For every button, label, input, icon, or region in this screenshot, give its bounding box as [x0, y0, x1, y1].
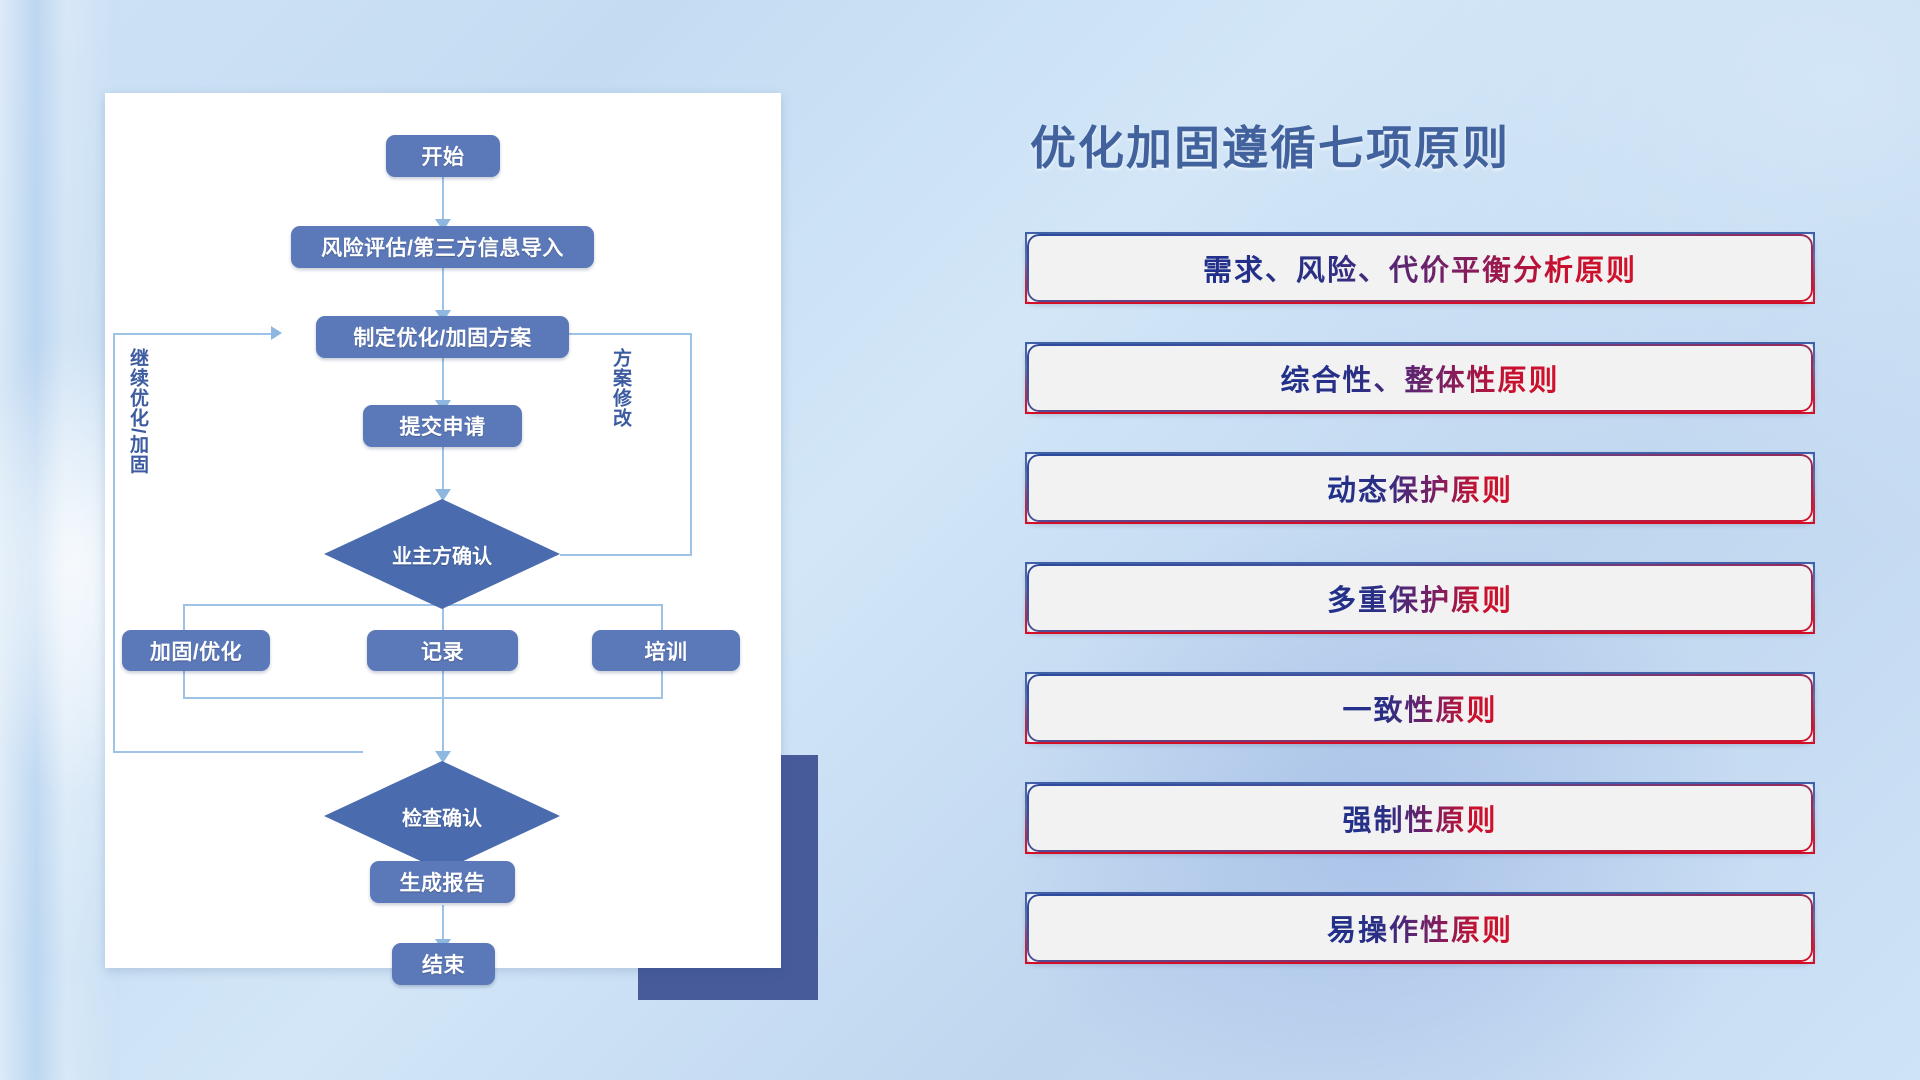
connector-owner-fork — [183, 604, 663, 606]
flow-node-start-label: 开始 — [422, 141, 465, 171]
principle-item-7-label: 易操作性原则 — [1327, 907, 1513, 949]
flowchart-card: 开始 风险评估/第三方信息导入 制定优化/加固方案 提交申请 业主方确认 加固/… — [105, 93, 781, 968]
principle-item-5[interactable]: 一致性原则 — [1025, 672, 1815, 744]
edge-label-right-loop: 方案修改 — [610, 348, 630, 488]
flow-node-risk-assessment-label: 风险评估/第三方信息导入 — [321, 232, 564, 262]
flow-node-plan[interactable]: 制定优化/加固方案 — [316, 316, 569, 358]
connector-left-loop-vertical — [113, 333, 115, 753]
principle-item-5-label: 一致性原则 — [1342, 687, 1497, 729]
flow-node-report-label: 生成报告 — [400, 867, 486, 897]
page-title: 优化加固遵循七项原则 — [1030, 112, 1830, 178]
principle-item-1[interactable]: 需求、风险、代价平衡分析原则 — [1025, 232, 1815, 304]
flow-node-owner-confirm[interactable]: 业主方确认 — [324, 499, 560, 609]
connector-plan-to-submit — [442, 358, 444, 404]
connector-start-to-risk — [442, 177, 444, 223]
flow-node-owner-confirm-label: 业主方确认 — [392, 540, 492, 569]
flow-node-check-confirm-label: 检查确认 — [402, 802, 482, 831]
flow-node-risk-assessment[interactable]: 风险评估/第三方信息导入 — [291, 226, 594, 268]
flow-node-report[interactable]: 生成报告 — [370, 861, 515, 903]
connector-submit-to-owner — [442, 447, 444, 493]
principle-item-3-label: 动态保护原则 — [1327, 467, 1513, 509]
flowchart-canvas: 开始 风险评估/第三方信息导入 制定优化/加固方案 提交申请 业主方确认 加固/… — [105, 93, 781, 968]
flow-node-end[interactable]: 结束 — [392, 943, 495, 985]
arrowhead-submit-to-owner — [435, 489, 451, 501]
principles-list: 需求、风险、代价平衡分析原则 综合性、整体性原则 动态保护原则 多重保护原则 一… — [1025, 232, 1815, 1002]
flow-node-check-confirm[interactable]: 检查确认 — [324, 761, 560, 871]
arrowhead-to-check — [435, 751, 451, 763]
principle-item-6-label: 强制性原则 — [1342, 797, 1497, 839]
connector-training-down — [661, 671, 663, 699]
principle-item-2[interactable]: 综合性、整体性原则 — [1025, 342, 1815, 414]
principle-item-1-label: 需求、风险、代价平衡分析原则 — [1203, 247, 1637, 289]
flow-node-submit[interactable]: 提交申请 — [363, 405, 522, 447]
flow-node-training-label: 培训 — [645, 636, 688, 666]
connector-right-up — [690, 333, 692, 556]
principle-item-7[interactable]: 易操作性原则 — [1025, 892, 1815, 964]
connector-owner-right — [560, 554, 691, 556]
principle-item-2-label: 综合性、整体性原则 — [1280, 357, 1559, 399]
connector-report-to-end — [442, 905, 444, 943]
connector-risk-to-plan — [442, 268, 444, 314]
flow-node-training[interactable]: 培训 — [592, 630, 740, 671]
edge-label-left-loop: 继续优化/加固 — [127, 348, 147, 528]
flow-node-reinforce[interactable]: 加固/优化 — [122, 630, 270, 671]
principle-item-4[interactable]: 多重保护原则 — [1025, 562, 1815, 634]
principle-item-3[interactable]: 动态保护原则 — [1025, 452, 1815, 524]
principle-item-6[interactable]: 强制性原则 — [1025, 782, 1815, 854]
flow-node-end-label: 结束 — [422, 949, 465, 979]
connector-reinforce-down — [183, 671, 185, 699]
connector-record-down — [442, 671, 444, 755]
flow-node-plan-label: 制定优化/加固方案 — [353, 322, 531, 352]
flow-node-reinforce-label: 加固/优化 — [150, 636, 242, 666]
connector-left-loop-bottom — [113, 751, 363, 753]
flow-node-record-label: 记录 — [421, 636, 464, 666]
principle-item-4-label: 多重保护原则 — [1327, 577, 1513, 619]
flow-node-start[interactable]: 开始 — [386, 135, 500, 177]
flow-node-record[interactable]: 记录 — [367, 630, 518, 671]
arrowhead-left-loop-to-plan — [271, 326, 282, 340]
connector-left-loop-top — [113, 333, 273, 335]
slide-canvas: 开始 风险评估/第三方信息导入 制定优化/加固方案 提交申请 业主方确认 加固/… — [0, 0, 1920, 1080]
flow-node-submit-label: 提交申请 — [400, 411, 486, 441]
connector-merge-bar — [183, 697, 663, 699]
